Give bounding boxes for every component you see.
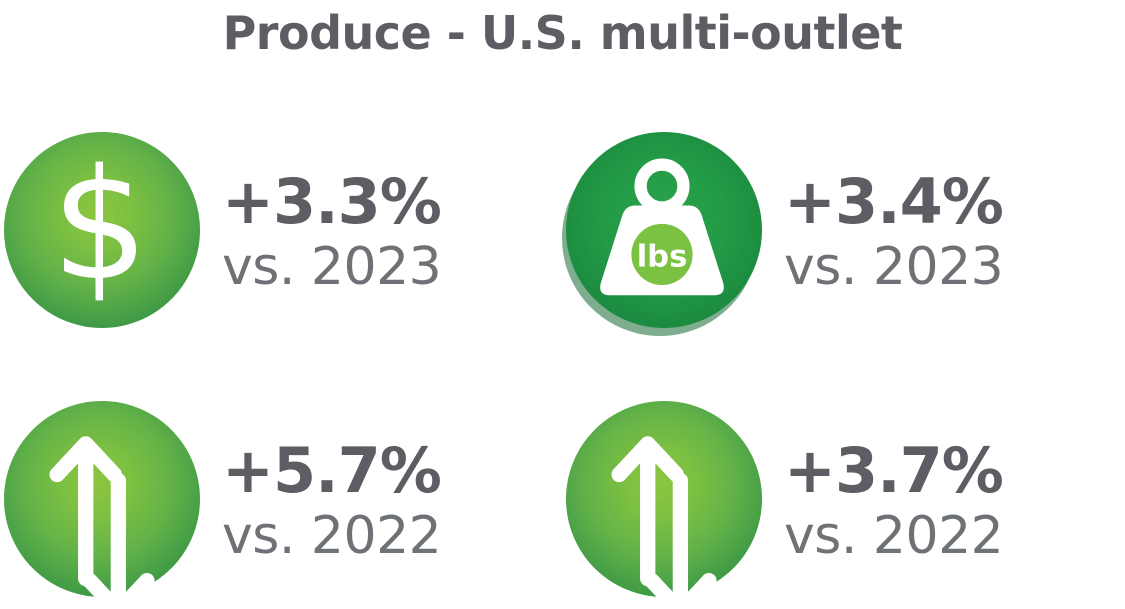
badge-dollar-sales-2022 <box>0 401 200 601</box>
stat-comparison: vs. 2023 <box>222 241 441 293</box>
weight-lbs-icon: lbs <box>562 132 762 332</box>
stat-value: +3.7% <box>784 440 1003 502</box>
stat-value: +3.3% <box>222 171 441 233</box>
lbs-label: lbs <box>637 239 688 274</box>
stat-card-pounds-2022: +3.7% vs. 2022 <box>562 393 1092 608</box>
value-block: +3.4% vs. 2023 <box>784 171 1003 293</box>
stat-comparison: vs. 2022 <box>222 510 441 562</box>
stat-value: +3.4% <box>784 171 1003 233</box>
stat-card-pounds-2023: lbs +3.4% vs. 2023 <box>562 124 1092 339</box>
value-block: +3.3% vs. 2023 <box>222 171 441 293</box>
stat-comparison: vs. 2023 <box>784 241 1003 293</box>
dollar-sign-icon: $ <box>0 132 200 332</box>
value-block: +5.7% vs. 2022 <box>222 440 441 562</box>
stats-grid: $ +3.3% vs. 2023 <box>0 118 1125 609</box>
badge-pounds-2022 <box>562 401 762 601</box>
svg-text:$: $ <box>51 136 148 314</box>
up-down-arrows-icon <box>562 401 762 601</box>
stat-comparison: vs. 2022 <box>784 510 1003 562</box>
badge-pounds-2023: lbs <box>562 132 762 332</box>
page-title: Produce - U.S. multi-outlet <box>0 6 1125 60</box>
stat-card-dollar-sales-2022: +5.7% vs. 2022 <box>0 393 530 608</box>
stat-card-dollar-sales-2023: $ +3.3% vs. 2023 <box>0 124 530 339</box>
value-block: +3.7% vs. 2022 <box>784 440 1003 562</box>
badge-dollar-sales-2023: $ <box>0 132 200 332</box>
stat-value: +5.7% <box>222 440 441 502</box>
infographic-root: Produce - U.S. multi-outlet $ +3.3% vs. … <box>0 0 1125 609</box>
up-down-arrows-icon <box>0 401 200 601</box>
